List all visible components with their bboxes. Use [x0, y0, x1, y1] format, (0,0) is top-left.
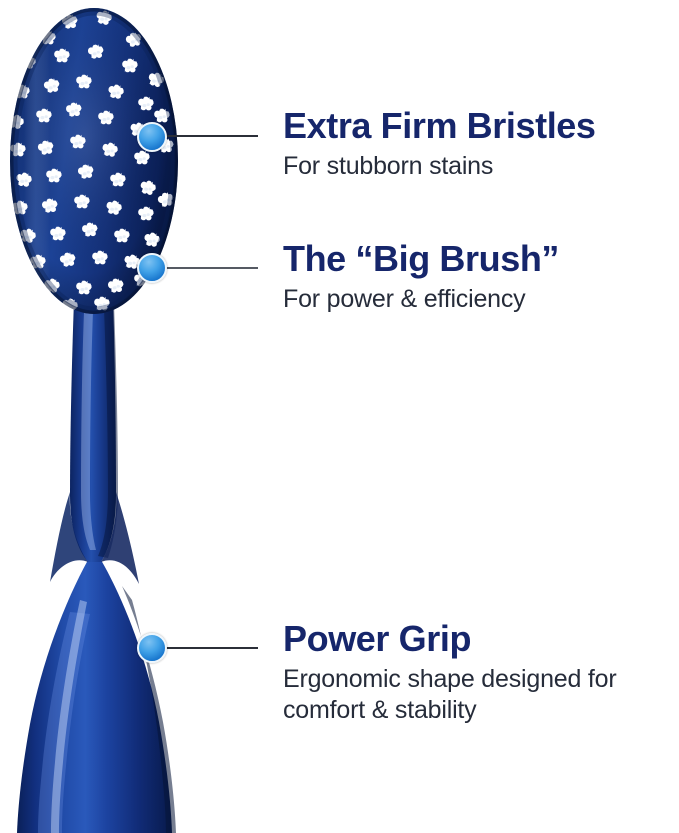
- marker-dot-extra-firm-bristles[interactable]: [137, 122, 167, 152]
- marker-dot-big-brush[interactable]: [137, 253, 167, 283]
- callout-subtitle-extra-firm-bristles: For stubborn stains: [283, 147, 596, 182]
- callout-title-big-brush: The “Big Brush”: [283, 238, 559, 280]
- product-feature-infographic: Extra Firm Bristles For stubborn stains …: [0, 0, 679, 833]
- leader-line-extra-firm-bristles: [164, 135, 258, 137]
- callout-subtitle-big-brush: For power & efficiency: [283, 280, 559, 315]
- callout-title-extra-firm-bristles: Extra Firm Bristles: [283, 105, 596, 147]
- callout-title-power-grip: Power Grip: [283, 618, 679, 660]
- brush-neck-shape: [50, 300, 139, 584]
- callout-text-extra-firm-bristles: Extra Firm Bristles For stubborn stains: [283, 105, 596, 182]
- callout-subtitle-power-grip: Ergonomic shape designed for comfort & s…: [283, 660, 679, 726]
- callout-text-power-grip: Power Grip Ergonomic shape designed for …: [283, 618, 679, 726]
- leader-line-big-brush: [166, 267, 258, 269]
- callout-text-big-brush: The “Big Brush” For power & efficiency: [283, 238, 559, 315]
- product-photo-toothbrush: [0, 0, 260, 833]
- marker-dot-power-grip[interactable]: [137, 633, 167, 663]
- leader-line-power-grip: [166, 647, 258, 649]
- brush-grip-shape: [17, 560, 176, 833]
